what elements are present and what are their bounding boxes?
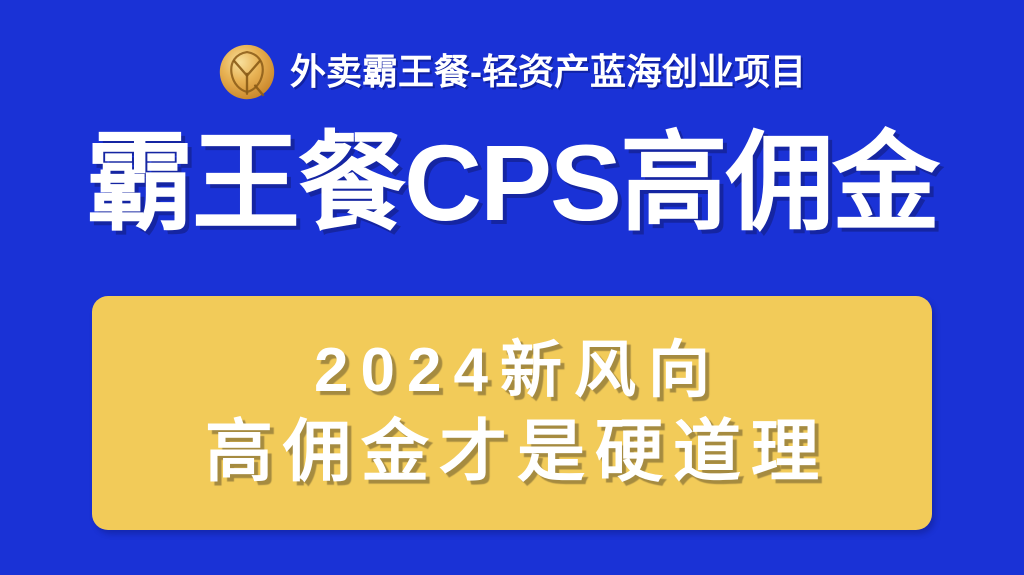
main-headline: 霸王餐CPS高佣金 [0,128,1024,238]
slogan-line-2: 高佣金才是硬道理 [195,417,829,488]
tulip-circle-logo-icon [218,43,276,101]
header-title: 外卖霸王餐-轻资产蓝海创业项目 [290,54,806,90]
header-row: 外卖霸王餐-轻资产蓝海创业项目 [0,36,1024,108]
slogan-panel: 2024新风向 高佣金才是硬道理 [92,296,932,530]
poster-canvas: 外卖霸王餐-轻资产蓝海创业项目 霸王餐CPS高佣金 2024新风向 高佣金才是硬… [0,0,1024,575]
slogan-line-1: 2024新风向 [302,338,722,403]
